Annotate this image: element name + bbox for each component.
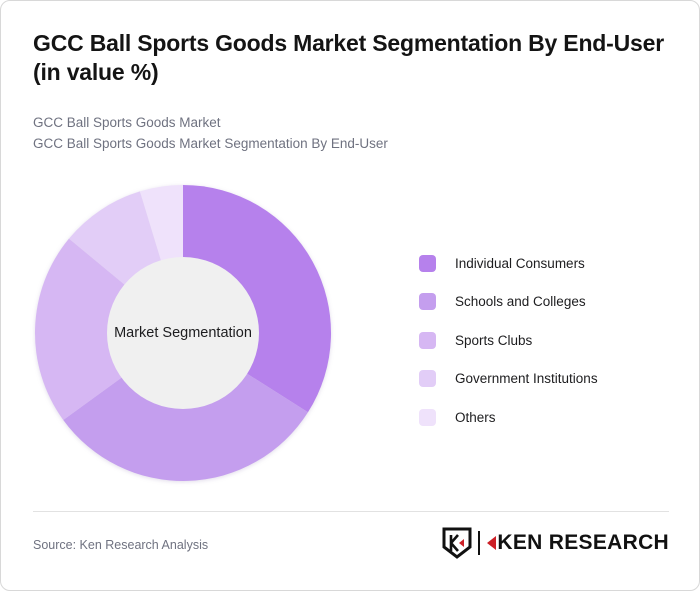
logo-separator <box>478 531 480 555</box>
legend-label: Others <box>455 410 496 425</box>
donut-svg <box>33 183 333 483</box>
legend-swatch <box>419 409 436 426</box>
chart-legend: Individual ConsumersSchools and Colleges… <box>419 244 679 437</box>
legend-label: Government Institutions <box>455 371 598 386</box>
legend-label: Individual Consumers <box>455 256 585 271</box>
logo-triangle-icon <box>487 536 496 550</box>
page-title: GCC Ball Sports Goods Market Segmentatio… <box>33 29 673 88</box>
legend-item[interactable]: Individual Consumers <box>419 244 679 283</box>
logo-wordmark-text: KEN RESEARCH <box>497 531 669 555</box>
chart-area: Market Segmentation Individual Consumers… <box>1 166 700 506</box>
legend-item[interactable]: Others <box>419 398 679 437</box>
donut-chart: Market Segmentation <box>33 183 333 483</box>
donut-hole <box>107 257 259 409</box>
subtitle-line-1: GCC Ball Sports Goods Market <box>33 113 653 134</box>
legend-label: Schools and Colleges <box>455 294 586 309</box>
legend-label: Sports Clubs <box>455 333 532 348</box>
legend-item[interactable]: Government Institutions <box>419 360 679 399</box>
footer-divider <box>33 511 669 512</box>
subtitle-line-2: GCC Ball Sports Goods Market Segmentatio… <box>33 134 653 155</box>
legend-swatch <box>419 332 436 349</box>
legend-swatch <box>419 293 436 310</box>
ken-research-logo: KEN RESEARCH <box>442 526 669 560</box>
legend-item[interactable]: Sports Clubs <box>419 321 679 360</box>
subtitle-block: GCC Ball Sports Goods Market GCC Ball Sp… <box>33 113 653 155</box>
logo-wordmark: KEN RESEARCH <box>487 531 669 555</box>
source-note: Source: Ken Research Analysis <box>33 538 208 552</box>
legend-swatch <box>419 255 436 272</box>
legend-item[interactable]: Schools and Colleges <box>419 283 679 322</box>
chart-card: GCC Ball Sports Goods Market Segmentatio… <box>0 0 700 591</box>
ken-research-shield-icon <box>442 527 472 559</box>
legend-swatch <box>419 370 436 387</box>
